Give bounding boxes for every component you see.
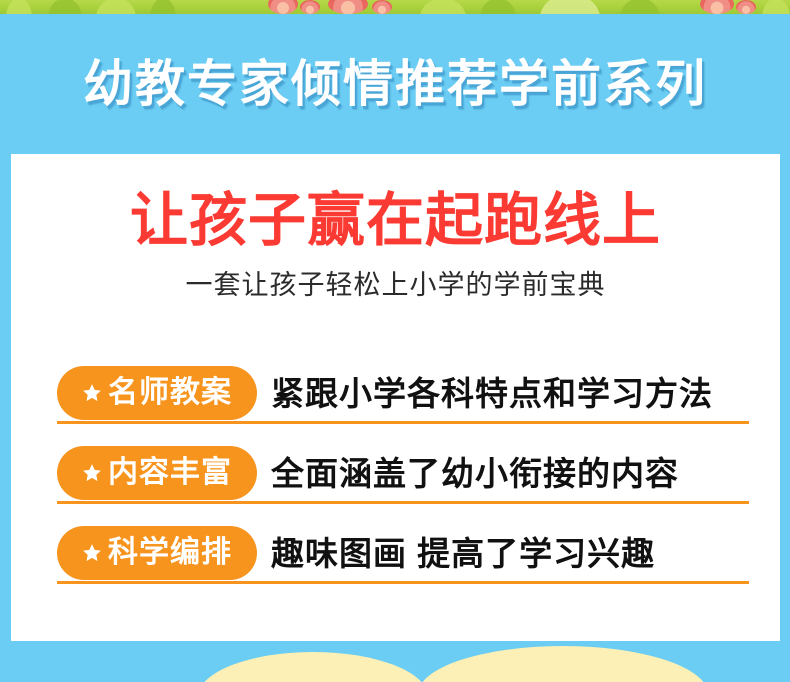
feature-underline xyxy=(57,581,749,584)
feature-tag-pill: 名师教案 xyxy=(57,366,257,420)
grass-blade-icon xyxy=(762,0,790,14)
feature-tag-pill: 科学编排 xyxy=(57,526,257,580)
header-band: 幼教专家倾情推荐学前系列 xyxy=(0,14,790,154)
grass-blade-icon xyxy=(6,0,32,14)
star-icon xyxy=(82,463,102,483)
feature-tag-label: 名师教案 xyxy=(108,378,232,408)
cloud-shape-icon xyxy=(198,652,428,682)
feature-tag-label: 内容丰富 xyxy=(108,458,232,488)
subtitle: 一套让孩子轻松上小学的学前宝典 xyxy=(11,272,780,299)
feature-description: 趣味图画 提高了学习兴趣 xyxy=(271,534,655,574)
star-icon xyxy=(82,543,102,563)
feature-underline xyxy=(57,421,749,424)
flower-icon xyxy=(268,0,298,14)
feature-row: 名师教案 紧跟小学各科特点和学习方法 xyxy=(49,366,749,428)
flower-icon xyxy=(736,0,756,14)
grass-decoration-strip xyxy=(0,0,790,14)
flower-icon xyxy=(700,0,734,14)
grass-blade-icon xyxy=(150,0,176,14)
feature-underline xyxy=(57,501,749,504)
promo-poster: 幼教专家倾情推荐学前系列 让孩子赢在起跑线上 一套让孩子轻松上小学的学前宝典 名… xyxy=(0,0,790,682)
feature-row: 科学编排 趣味图画 提高了学习兴趣 xyxy=(49,526,749,588)
feature-description: 全面涵盖了幼小衔接的内容 xyxy=(271,454,679,494)
grass-blade-icon xyxy=(96,0,136,14)
feature-tag-pill: 内容丰富 xyxy=(57,446,257,500)
bottom-decoration xyxy=(0,641,790,682)
flower-icon xyxy=(372,0,392,14)
grass-blade-icon xyxy=(480,0,516,14)
flower-icon xyxy=(328,0,368,14)
content-panel: 让孩子赢在起跑线上 一套让孩子轻松上小学的学前宝典 名师教案 紧跟小学各科特点和… xyxy=(11,154,780,641)
feature-row: 内容丰富 全面涵盖了幼小衔接的内容 xyxy=(49,446,749,508)
headline: 让孩子赢在起跑线上 xyxy=(11,192,780,250)
grass-blade-icon xyxy=(620,0,660,14)
star-icon xyxy=(82,383,102,403)
cloud-shape-icon xyxy=(418,646,708,682)
feature-description: 紧跟小学各科特点和学习方法 xyxy=(271,374,713,414)
grass-blade-icon xyxy=(48,0,82,14)
flower-icon xyxy=(300,0,320,14)
grass-blade-icon xyxy=(420,0,466,14)
header-title: 幼教专家倾情推荐学前系列 xyxy=(83,59,707,109)
grass-blade-icon xyxy=(540,0,600,14)
feature-tag-label: 科学编排 xyxy=(108,538,232,568)
